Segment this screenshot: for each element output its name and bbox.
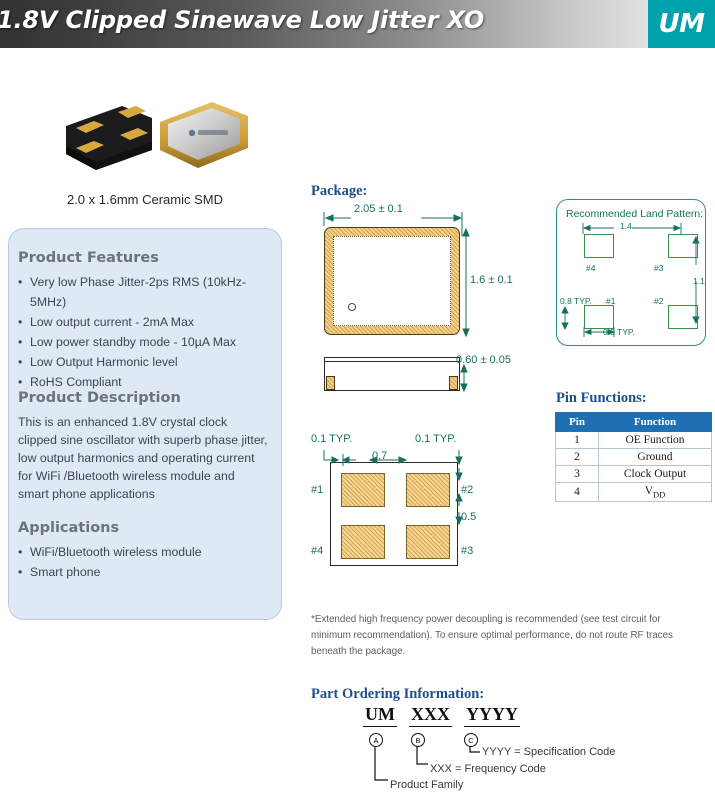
- package-side-view: [324, 361, 460, 391]
- product-features-heading: Product Features: [18, 250, 268, 266]
- page-title: 1.8V Clipped Sinewave Low Jitter XO: [0, 6, 484, 34]
- list-item: Low Output Harmonic level: [18, 353, 268, 373]
- list-item: WiFi/Bluetooth wireless module: [18, 543, 268, 563]
- package-pin-label-4: #4: [311, 545, 323, 557]
- table-row: 3 Clock Output: [556, 466, 712, 483]
- list-item: Very low Phase Jitter-2ps RMS (10kHz-5MH…: [18, 273, 268, 313]
- code-frequency: XXX: [409, 704, 452, 727]
- pin-functions-table: Pin Function 1 OE Function 2 Ground 3 Cl…: [555, 412, 712, 502]
- cell-function: VDD: [599, 483, 712, 502]
- cell-function: OE Function: [599, 432, 712, 449]
- cell-pin: 3: [556, 466, 599, 483]
- table-header-row: Pin Function: [556, 413, 712, 432]
- list-item: Low power standby mode - 10µA Max: [18, 333, 268, 353]
- package-bottom-dimension-lines: [322, 446, 482, 536]
- legend-frequency-code: XXX = Frequency Code: [430, 763, 546, 775]
- cell-pin: 1: [556, 432, 599, 449]
- land-pattern-dimension-lines: [556, 199, 706, 346]
- table-row: 2 Ground: [556, 449, 712, 466]
- bottom-left-typ-dimension: 0.1 TYP.: [311, 433, 352, 445]
- package-pin-label-3: #3: [461, 545, 473, 557]
- column-header-pin: Pin: [556, 413, 599, 432]
- footnote-text: *Extended high frequency power decouplin…: [311, 612, 701, 660]
- product-description-text: This is an enhanced 1.8V crystal clock c…: [18, 413, 268, 503]
- applications-heading: Applications: [18, 520, 268, 536]
- vdd-subscript: DD: [653, 489, 665, 499]
- photo-caption: 2.0 x 1.6mm Ceramic SMD: [10, 192, 280, 207]
- cell-pin: 2: [556, 449, 599, 466]
- table-row: 1 OE Function: [556, 432, 712, 449]
- cell-pin: 4: [556, 483, 599, 502]
- package-side-dimension-lines: [455, 362, 485, 398]
- list-item: Low output current - 2mA Max: [18, 313, 268, 333]
- list-item: Smart phone: [18, 563, 268, 583]
- cell-function: Clock Output: [599, 466, 712, 483]
- legend-product-family: Product Family: [390, 779, 463, 791]
- product-description-heading: Product Description: [18, 390, 268, 406]
- product-features-list: Very low Phase Jitter-2ps RMS (10kHz-5MH…: [18, 273, 268, 392]
- applications-section: Applications WiFi/Bluetooth wireless mod…: [18, 520, 268, 583]
- product-features-section: Product Features Very low Phase Jitter-2…: [18, 250, 268, 392]
- cell-function-value: V: [645, 485, 653, 497]
- package-top-dimension-lines: [311, 196, 501, 346]
- datasheet-page: 1.8V Clipped Sinewave Low Jitter XO UM: [0, 0, 715, 797]
- brand-logo: UM: [648, 0, 715, 48]
- product-description-section: Product Description This is an enhanced …: [18, 390, 268, 503]
- cell-function: Ground: [599, 449, 712, 466]
- product-photo: [52, 88, 252, 180]
- part-number-codes: UM XXX YYYY: [363, 704, 520, 727]
- package-side-pad-left: [326, 376, 335, 390]
- column-header-function: Function: [599, 413, 712, 432]
- brand-logo-text: UM: [659, 9, 705, 39]
- applications-list: WiFi/Bluetooth wireless module Smart pho…: [18, 543, 268, 583]
- table-row: 4 VDD: [556, 483, 712, 502]
- pin-functions-heading: Pin Functions:: [556, 390, 647, 407]
- code-specification: YYYY: [464, 704, 520, 727]
- bottom-right-typ-dimension: 0.1 TYP.: [415, 433, 456, 445]
- part-ordering-heading: Part Ordering Information:: [311, 686, 484, 703]
- legend-specification-code: YYYY = Specification Code: [482, 746, 615, 758]
- code-product-family: UM: [363, 704, 397, 727]
